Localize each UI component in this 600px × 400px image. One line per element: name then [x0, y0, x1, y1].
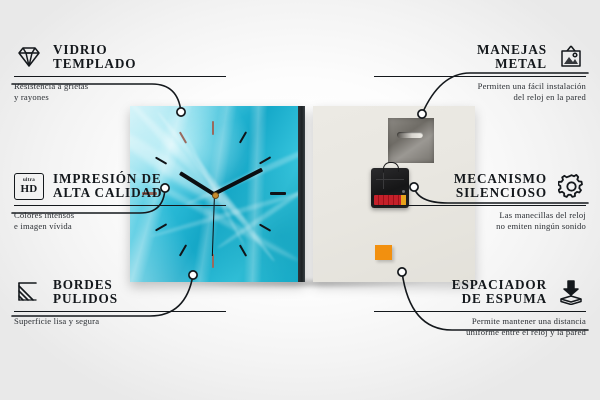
feature-title-line1: VIDRIO [53, 43, 136, 57]
feature-desc-line1: Las manecillas del reloj [374, 210, 586, 221]
feature-espaciador-espuma[interactable]: ESPACIADOR DE ESPUMA Permite mantener un… [374, 277, 586, 338]
feature-title-line1: BORDES [53, 278, 118, 292]
picture-hanger-icon [556, 42, 586, 72]
feature-desc-line1: Permite mantener una distancia [374, 316, 586, 327]
feature-title-line2: TEMPLADO [53, 57, 136, 71]
feature-rule [374, 311, 586, 312]
feature-title-line1: MECANISMO [454, 172, 547, 186]
feature-manejas-metal[interactable]: MANEJAS METAL Permiten una fácil instala… [374, 42, 586, 103]
hanger-slot [397, 132, 423, 138]
clock-side-edge [298, 106, 305, 282]
feature-mecanismo-silencioso[interactable]: MECANISMO SILENCIOSO Las manecillas del … [374, 171, 586, 232]
feature-vidrio-templado[interactable]: VIDRIO TEMPLADO Resistencia a grietas y … [14, 42, 226, 103]
feature-rule [14, 205, 226, 206]
ultra-hd-icon: ultra HD [14, 171, 44, 201]
feature-desc-line1: Resistencia a grietas [14, 81, 226, 92]
feature-desc-line2: y rayones [14, 92, 226, 103]
feature-title-line1: ESPACIADOR [452, 278, 547, 292]
ultra-hd-small-text: ultra [23, 178, 35, 183]
foam-spacer [375, 245, 392, 260]
polished-edges-icon [14, 277, 44, 307]
feature-desc-line1: Permiten una fácil instalación [374, 81, 586, 92]
feature-desc-line2: e imagen vívida [14, 221, 226, 232]
feature-impresion-alta-calidad[interactable]: ultra HD IMPRESIÓN DE ALTA CALIDAD Color… [14, 171, 226, 232]
arrow-onto-layers-icon [556, 277, 586, 307]
clock-tick [270, 192, 286, 195]
feature-title-line2: ALTA CALIDAD [53, 186, 162, 200]
feature-title-line2: METAL [477, 57, 547, 71]
feature-desc-line1: Colores intensos [14, 210, 226, 221]
gear-icon [556, 171, 586, 201]
feature-bordes-pulidos[interactable]: BORDES PULIDOS Superficie lisa y segura [14, 277, 226, 327]
feature-desc-line1: Superficie lisa y segura [14, 316, 226, 327]
feature-rule [374, 205, 586, 206]
feature-rule [14, 311, 226, 312]
feature-desc-line2: uniforme entre el reloj y la pared [374, 327, 586, 338]
infographic-canvas: VIDRIO TEMPLADO Resistencia a grietas y … [0, 0, 600, 400]
ultra-hd-large-text: HD [21, 184, 38, 195]
feature-desc-line2: no emiten ningún sonido [374, 221, 586, 232]
feature-title-line2: SILENCIOSO [454, 186, 547, 200]
metal-hanger-plate [388, 118, 434, 163]
feature-rule [14, 76, 226, 77]
feature-title-line1: IMPRESIÓN DE [53, 172, 162, 186]
diamond-icon [14, 42, 44, 72]
feature-title-line2: DE ESPUMA [452, 292, 547, 306]
feature-title-line1: MANEJAS [477, 43, 547, 57]
feature-desc-line2: del reloj en la pared [374, 92, 586, 103]
feature-title-line2: PULIDOS [53, 292, 118, 306]
feature-rule [374, 76, 586, 77]
